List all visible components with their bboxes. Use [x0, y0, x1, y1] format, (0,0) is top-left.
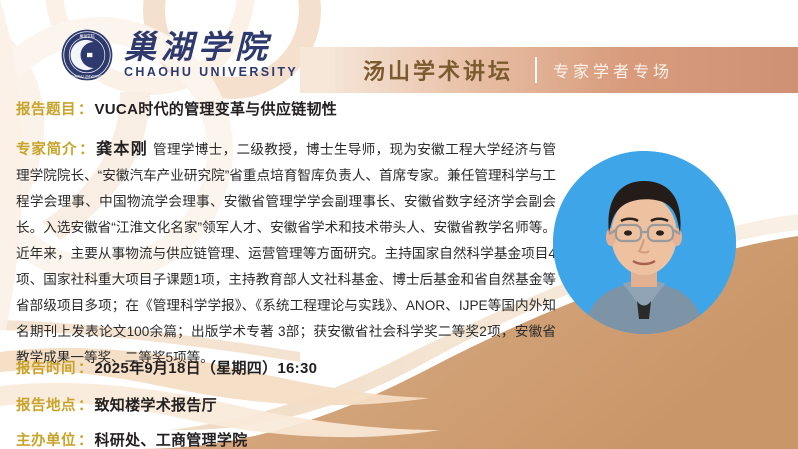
university-seal-icon: 巢湖学院 CHAOHU UNIVERSITY: [60, 28, 114, 82]
banner-left-fade: [300, 47, 336, 93]
forum-banner-title: 汤山学术讲坛: [363, 54, 513, 86]
report-host-label: 主办单位: [16, 429, 76, 449]
speaker-bio-label: 专家简介: [16, 142, 77, 158]
speaker-bio-text: 专家简介：龚本刚管理学博士，二级教授，博士生导师，现为安徽工程大学经济与管理学院…: [16, 137, 556, 371]
report-title-row: 报告题目 ： VUCA时代的管理变革与供应链韧性: [16, 98, 337, 119]
report-title-colon: ：: [76, 98, 95, 119]
university-name-en: CHAOHU UNIVERSITY: [124, 65, 298, 80]
speaker-portrait: [553, 151, 736, 334]
report-place-colon: ：: [76, 394, 95, 415]
speaker-bio-block: 专家简介：龚本刚管理学博士，二级教授，博士生导师，现为安徽工程大学经济与管理学院…: [16, 137, 556, 371]
university-logo: 巢湖学院 CHAOHU UNIVERSITY 巢湖学院 CHAOHU UNIVE…: [60, 28, 298, 82]
report-time-colon: ：: [76, 357, 95, 378]
banner-divider: [535, 57, 537, 83]
report-host-value: 科研处、工商管理学院: [95, 429, 248, 449]
report-place-label: 报告地点: [16, 394, 76, 415]
svg-text:巢湖学院: 巢湖学院: [79, 34, 94, 39]
speaker-portrait-photo: [553, 151, 736, 334]
speaker-bio-body: 与管理学院院长、“安徽汽车产业研究院”省重点培育智库负责人、首席专家。兼任管理科…: [16, 142, 556, 365]
forum-banner-subtitle: 专家学者专场: [553, 58, 673, 82]
report-time-label: 报告时间: [16, 357, 76, 378]
seminar-poster: 巢湖学院 CHAOHU UNIVERSITY 巢湖学院 CHAOHU UNIVE…: [0, 0, 798, 449]
report-place-row: 报告地点 ： 致知楼学术报告厅: [16, 394, 217, 415]
report-place-value: 致知楼学术报告厅: [95, 394, 217, 415]
svg-text:CHAOHU UNIVERSITY: CHAOHU UNIVERSITY: [70, 75, 105, 79]
speaker-name: 龚本刚: [96, 141, 148, 158]
report-host-row: 主办单位 ： 科研处、工商管理学院: [16, 429, 248, 449]
report-host-colon: ：: [76, 429, 95, 449]
speaker-bio-first-segment: 管理学博士，二级教授，博士生导师，现为安徽工程大学经济: [153, 142, 528, 157]
report-title-label: 报告题目: [16, 98, 76, 119]
speaker-bio-colon: ：: [77, 142, 96, 158]
university-name-block: 巢湖学院 CHAOHU UNIVERSITY: [124, 30, 298, 80]
report-time-value: 2025年9月18日（星期四）16:30: [95, 357, 318, 378]
university-name-cn: 巢湖学院: [124, 30, 298, 64]
forum-banner: 汤山学术讲坛 专家学者专场: [335, 47, 798, 93]
report-time-row: 报告时间 ： 2025年9月18日（星期四）16:30: [16, 357, 317, 378]
report-title-value: VUCA时代的管理变革与供应链韧性: [95, 98, 338, 119]
